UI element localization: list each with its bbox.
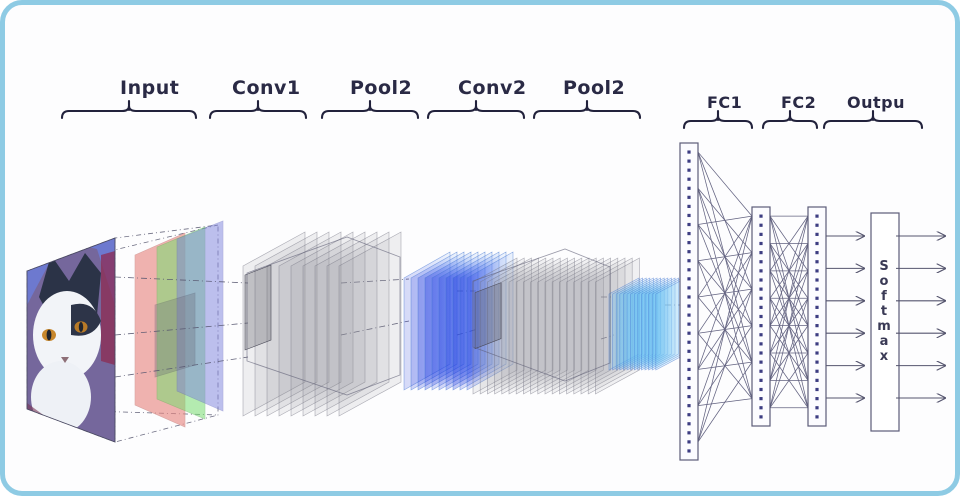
neuron-node [759,260,762,263]
neuron-node [687,350,690,353]
neuron-node [687,250,690,253]
neuron-node [815,333,818,336]
neuron-node [687,241,690,244]
softmax-letter: m [875,319,893,334]
neuron-node [815,288,818,291]
fc2-neuron-column[interactable] [752,207,770,426]
neuron-node [687,341,690,344]
neuron-node [759,269,762,272]
fc-link [698,362,752,442]
receptive-field-patch [245,265,271,350]
fc1-neuron-column[interactable] [680,143,698,460]
receptive-field-patch [475,283,501,349]
neuron-node [759,233,762,236]
pool2-feature-maps [609,278,686,370]
neuron-node [759,315,762,318]
neuron-node [687,377,690,380]
neuron-node [815,242,818,245]
input-layer-group [27,221,223,443]
neuron-node [759,351,762,354]
neuron-node [687,295,690,298]
neuron-node [815,370,818,373]
neuron-node [687,178,690,181]
neuron-node [687,395,690,398]
neuron-node [815,315,818,318]
stage-label-output: Outpu [847,93,905,112]
neuron-node [687,214,690,217]
neuron-node [759,379,762,382]
neuron-node [759,278,762,281]
neuron-node [815,388,818,391]
neuron-node [759,297,762,300]
neuron-node [759,306,762,309]
neuron-node [815,361,818,364]
neuron-node [687,169,690,172]
softmax-letter: t [875,304,893,319]
neuron-node [687,304,690,307]
neuron-node [687,205,690,208]
neuron-node [815,324,818,327]
neuron-node [815,251,818,254]
neuron-node [759,342,762,345]
neuron-node [687,368,690,371]
neuron-node [687,277,690,280]
neuron-node [759,370,762,373]
neuron-node [759,288,762,291]
neuron-node [759,215,762,218]
neuron-node [815,415,818,418]
fc-link [698,216,752,369]
neuron-node [687,259,690,262]
neuron-node [815,260,818,263]
fc-link [698,216,752,297]
neuron-node [687,431,690,434]
neuron-node [687,187,690,190]
softmax-letter: S [875,259,893,274]
neuron-node [687,404,690,407]
neuron-node [759,388,762,391]
softmax-letter: o [875,274,893,289]
neuron-node [815,278,818,281]
neuron-node [687,150,690,153]
softmax-letter: f [875,289,893,304]
neuron-node [687,413,690,416]
diagram-frame: InputConv1Pool2Conv2Pool2FC1FC2Outpu Sof… [0,0,960,496]
neuron-node [687,359,690,362]
stage-label-fc2: FC2 [781,93,816,112]
neuron-node [687,313,690,316]
neuron-node [815,406,818,409]
neuron-node [815,397,818,400]
neuron-node [759,324,762,327]
input-channel-planes [135,221,223,427]
neuron-node [815,306,818,309]
stage-label-input: Input [120,77,179,99]
input-cat-image [27,238,119,443]
softmax-label: Softmax [875,259,893,364]
neuron-node [815,379,818,382]
stage-label-fc1: FC1 [707,93,742,112]
neuron-node [759,251,762,254]
neuron-node [815,269,818,272]
neuron-node [687,160,690,163]
neuron-node [815,351,818,354]
column-outline [680,143,698,460]
neuron-node [687,323,690,326]
neuron-node [759,406,762,409]
neuron-node [687,232,690,235]
neuron-node [687,196,690,199]
stage-label-pool2: Pool2 [563,77,625,99]
neuron-node [687,386,690,389]
neuron-node [815,297,818,300]
neuron-node [687,422,690,425]
neuron-node [759,415,762,418]
fc-link [698,289,752,442]
output-neuron-column[interactable] [808,207,826,426]
neuron-node [815,342,818,345]
neuron-node [759,224,762,227]
neuron-node [759,333,762,336]
neuron-node [815,233,818,236]
neuron-node [687,286,690,289]
stage-label-conv2: Conv2 [458,77,527,99]
conv1-feature-maps [243,232,401,416]
stage-label-pool1: Pool2 [350,77,412,99]
softmax-letter: a [875,334,893,349]
softmax-letter: x [875,349,893,364]
stage-label-conv1: Conv1 [232,77,301,99]
feature-map-stacks [243,232,686,416]
fc-link [698,216,752,442]
neuron-node [759,397,762,400]
neuron-node [815,215,818,218]
neuron-node [759,361,762,364]
neuron-node [687,268,690,271]
neuron-node [687,332,690,335]
neuron-node [815,224,818,227]
neuron-node [687,223,690,226]
neuron-node [687,449,690,452]
neuron-node [759,242,762,245]
neuron-node [687,440,690,443]
